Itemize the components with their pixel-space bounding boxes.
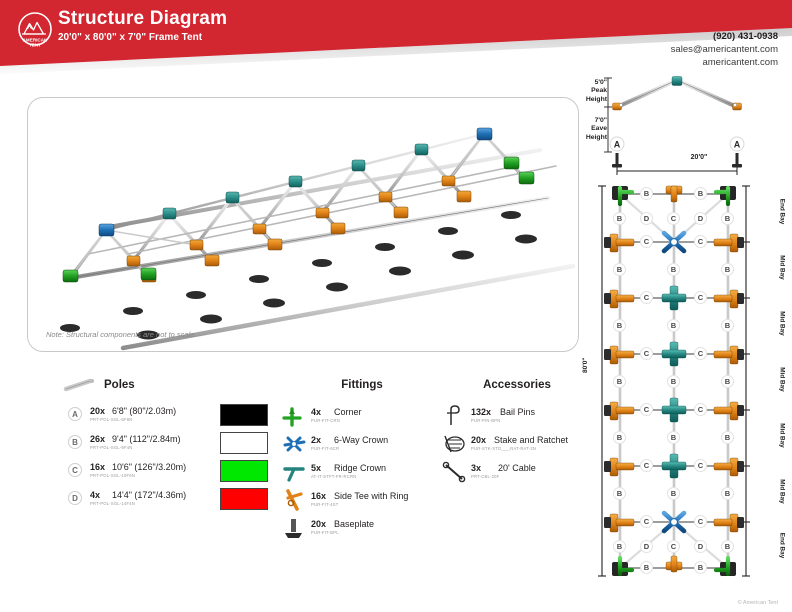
legend-fittings-column: Fittings 4x Corner PUR-FIT-CRN bbox=[282, 378, 442, 544]
pole-sku-c: PRT-POL-SGL-10F6N bbox=[90, 473, 135, 478]
accessory-row-stake-ratchet: 20x Stake and Ratchet PUR-STK-STD___,RAT… bbox=[442, 432, 592, 460]
title-block: Structure Diagram 20'0" x 80'0" x 7'0" F… bbox=[58, 8, 227, 45]
fitting-qty-side-tee: 16x bbox=[311, 491, 326, 501]
bay-label-mid-4: Mid Bay bbox=[776, 432, 788, 439]
plan-node-b: B bbox=[694, 187, 707, 200]
plan-node-c: C bbox=[667, 540, 680, 553]
plan-node-b: B bbox=[613, 212, 626, 225]
plan-node-b: B bbox=[721, 540, 734, 553]
bay-label-mid-2: Mid Bay bbox=[776, 320, 788, 327]
plan-view: 80'0" bbox=[588, 178, 788, 584]
fitting-row-ridge-crown: 5x Ridge Crown AT-IT-STFT-FR-RCRN bbox=[282, 460, 442, 488]
bay-label-end-top: End Bay bbox=[776, 208, 788, 215]
plan-node-c: C bbox=[694, 235, 707, 248]
fitting-desc-six-way-crown: 6-Way Crown bbox=[334, 435, 388, 445]
fitting-sku-baseplate: PUR-FIT-BPL bbox=[311, 530, 339, 535]
fitting-sku-six-way-crown: PUR-FIT-6CR bbox=[311, 446, 339, 451]
bay-label-end-bottom: End Bay bbox=[776, 542, 788, 549]
iso-note: Note: Structural components are not to s… bbox=[46, 330, 197, 339]
plan-node-b: B bbox=[667, 431, 680, 444]
plan-node-c: C bbox=[640, 347, 653, 360]
stake-ratchet-icon bbox=[442, 433, 468, 455]
plan-node-b: B bbox=[667, 487, 680, 500]
fitting-row-side-tee: 16x Side Tee with Ring PUR-FIT-4ST bbox=[282, 488, 442, 516]
plan-node-c: C bbox=[640, 459, 653, 472]
pole-sku-a: PRT-POL-SGL-6F8N bbox=[90, 417, 132, 422]
plan-node-b: B bbox=[721, 319, 734, 332]
accessories-heading-row: Accessories bbox=[442, 378, 592, 394]
pole-desc-a: 6'8" (80"/2.03m) bbox=[112, 406, 176, 416]
pole-row-c: C 16x 10'6" (126"/3.20m) PRT-POL-SGL-10F… bbox=[60, 460, 275, 488]
fitting-qty-baseplate: 20x bbox=[311, 519, 326, 529]
plan-node-b: B bbox=[667, 263, 680, 276]
footer-copyright: © American Tent bbox=[738, 600, 778, 606]
accessory-row-bail-pins: 132x Bail Pins PUR-PIN-BPN bbox=[442, 404, 592, 432]
accessory-qty-cable: 3x bbox=[471, 463, 481, 473]
accessory-qty-bail-pins: 132x bbox=[471, 407, 491, 417]
plan-node-c: C bbox=[694, 291, 707, 304]
fitting-qty-six-way-crown: 2x bbox=[311, 435, 321, 445]
pole-desc-c: 10'6" (126"/3.20m) bbox=[112, 462, 186, 472]
plan-node-b: B bbox=[613, 540, 626, 553]
pole-color-swatch-d bbox=[220, 488, 268, 510]
plan-node-c: C bbox=[694, 459, 707, 472]
plan-node-b: B bbox=[667, 375, 680, 388]
plan-node-d: D bbox=[640, 212, 653, 225]
fitting-sku-side-tee: PUR-FIT-4ST bbox=[311, 502, 339, 507]
pole-color-swatch-b bbox=[220, 432, 268, 454]
bail-pin-icon bbox=[442, 405, 468, 427]
plan-node-b: B bbox=[640, 561, 653, 574]
pole-badge-b: B bbox=[68, 435, 82, 449]
cable-icon bbox=[442, 461, 468, 483]
bay-label-mid-5: Mid Bay bbox=[776, 488, 788, 495]
pole-desc-d: 14'4" (172"/4.36m) bbox=[112, 490, 186, 500]
pole-badge-c: C bbox=[68, 463, 82, 477]
fittings-heading-row: Fittings bbox=[282, 378, 442, 394]
accessory-sku-cable: PRT-CBL-20F bbox=[471, 474, 499, 479]
accessory-desc-cable: 20' Cable bbox=[498, 463, 536, 473]
plan-node-b: B bbox=[721, 487, 734, 500]
pole-sku-b: PRT-POL-SGL-9F4N bbox=[90, 445, 132, 450]
plan-node-b: B bbox=[694, 561, 707, 574]
pole-color-swatch-c bbox=[220, 460, 268, 482]
plan-node-b: B bbox=[613, 487, 626, 500]
ridge-crown-icon bbox=[282, 461, 308, 483]
plan-node-c: C bbox=[640, 403, 653, 416]
legend-poles-column: Poles A 20x 6'8" (80"/2.03m) PRT-POL-SGL… bbox=[60, 378, 275, 516]
plan-node-b: B bbox=[613, 375, 626, 388]
isometric-view-panel: Note: Structural components are not to s… bbox=[27, 97, 579, 352]
corner-fitting-icon bbox=[282, 405, 308, 427]
accessory-sku-stake-ratchet: PUR-STK-STD___,RAT-RAT-2N bbox=[471, 446, 536, 451]
six-way-crown-icon bbox=[282, 433, 308, 455]
contact-website[interactable]: americantent.com bbox=[671, 56, 778, 69]
poles-heading: Poles bbox=[104, 379, 135, 391]
pole-color-swatch-a bbox=[220, 404, 268, 426]
contact-email[interactable]: sales@americantent.com bbox=[671, 43, 778, 56]
pole-qty-c: 16x bbox=[90, 462, 105, 472]
fitting-desc-corner: Corner bbox=[334, 407, 362, 417]
isometric-tent-drawing bbox=[28, 98, 578, 351]
accessory-desc-bail-pins: Bail Pins bbox=[500, 407, 535, 417]
fitting-desc-baseplate: Baseplate bbox=[334, 519, 374, 529]
contact-phone[interactable]: (920) 431-0938 bbox=[671, 30, 778, 43]
plan-node-b: B bbox=[721, 431, 734, 444]
plan-node-b: B bbox=[667, 319, 680, 332]
svg-text:TENT: TENT bbox=[29, 43, 41, 48]
plan-node-b: B bbox=[640, 187, 653, 200]
plan-node-d: D bbox=[640, 540, 653, 553]
pole-desc-b: 9'4" (112"/2.84m) bbox=[112, 434, 180, 444]
elevation-drawing: A A bbox=[565, 74, 790, 180]
plan-node-b: B bbox=[721, 263, 734, 276]
fitting-row-corner: 4x Corner PUR-FIT-CRN bbox=[282, 404, 442, 432]
page-title: Structure Diagram bbox=[58, 8, 227, 30]
bay-label-mid-3: Mid Bay bbox=[776, 376, 788, 383]
plan-node-c: C bbox=[694, 347, 707, 360]
contact-info: (920) 431-0938 sales@americantent.com am… bbox=[671, 30, 778, 69]
pole-row-a: A 20x 6'8" (80"/2.03m) PRT-POL-SGL-6F8N bbox=[60, 404, 275, 432]
pole-row-b: B 26x 9'4" (112"/2.84m) PRT-POL-SGL-9F4N bbox=[60, 432, 275, 460]
fitting-qty-corner: 4x bbox=[311, 407, 321, 417]
plan-node-d: D bbox=[694, 212, 707, 225]
plan-node-c: C bbox=[694, 515, 707, 528]
accessory-sku-bail-pins: PUR-PIN-BPN bbox=[471, 418, 500, 423]
baseplate-icon bbox=[282, 517, 308, 539]
plan-node-c: C bbox=[694, 403, 707, 416]
accessories-heading: Accessories bbox=[442, 379, 592, 391]
plan-node-b: B bbox=[613, 431, 626, 444]
fitting-sku-corner: PUR-FIT-CRN bbox=[311, 418, 340, 423]
accessory-row-cable: 3x 20' Cable PRT-CBL-20F bbox=[442, 460, 592, 488]
plan-node-c: C bbox=[640, 291, 653, 304]
pole-icon bbox=[63, 378, 97, 395]
pole-qty-a: 20x bbox=[90, 406, 105, 416]
plan-node-b: B bbox=[721, 375, 734, 388]
fitting-row-six-way-crown: 2x 6-Way Crown PUR-FIT-6CR bbox=[282, 432, 442, 460]
elevation-view: 5'0" Peak Height 7'0" Eave Height 20'0" bbox=[565, 74, 790, 180]
pole-row-d: D 4x 14'4" (172"/4.36m) PRT-POL-SGL-14F4… bbox=[60, 488, 275, 516]
plan-node-d: D bbox=[694, 540, 707, 553]
american-tent-logo: AMERICAN TENT bbox=[12, 10, 58, 52]
plan-node-b: B bbox=[613, 319, 626, 332]
fitting-desc-ridge-crown: Ridge Crown bbox=[334, 463, 386, 473]
fitting-qty-ridge-crown: 5x bbox=[311, 463, 321, 473]
svg-text:A: A bbox=[614, 140, 621, 150]
accessory-qty-stake-ratchet: 20x bbox=[471, 435, 486, 445]
plan-node-b: B bbox=[721, 212, 734, 225]
poles-heading-row: Poles bbox=[60, 378, 275, 394]
plan-node-c: C bbox=[640, 515, 653, 528]
pole-sku-d: PRT-POL-SGL-14F4N bbox=[90, 501, 135, 506]
pole-badge-a: A bbox=[68, 407, 82, 421]
legend: Poles A 20x 6'8" (80"/2.03m) PRT-POL-SGL… bbox=[60, 378, 580, 548]
accessory-desc-stake-ratchet: Stake and Ratchet bbox=[494, 435, 568, 445]
pole-badge-d: D bbox=[68, 491, 82, 505]
fitting-desc-side-tee: Side Tee with Ring bbox=[334, 491, 408, 501]
page-subtitle: 20'0" x 80'0" x 7'0" Frame Tent bbox=[58, 31, 227, 45]
legend-accessories-column: Accessories 132x Bail Pins PUR-PIN-BPN bbox=[442, 378, 592, 488]
svg-text:A: A bbox=[734, 140, 741, 150]
plan-node-c: C bbox=[640, 235, 653, 248]
plan-node-b: B bbox=[613, 263, 626, 276]
side-tee-ring-icon bbox=[282, 489, 308, 511]
fittings-heading: Fittings bbox=[282, 379, 442, 391]
pole-qty-d: 4x bbox=[90, 490, 100, 500]
plan-node-c: C bbox=[667, 212, 680, 225]
fitting-row-baseplate: 20x Baseplate PUR-FIT-BPL bbox=[282, 516, 442, 544]
fitting-sku-ridge-crown: AT-IT-STFT-FR-RCRN bbox=[311, 474, 356, 479]
pole-qty-b: 26x bbox=[90, 434, 105, 444]
bay-label-mid-1: Mid Bay bbox=[776, 264, 788, 271]
structure-diagram-page: AMERICAN TENT Structure Diagram 20'0" x … bbox=[0, 0, 792, 612]
